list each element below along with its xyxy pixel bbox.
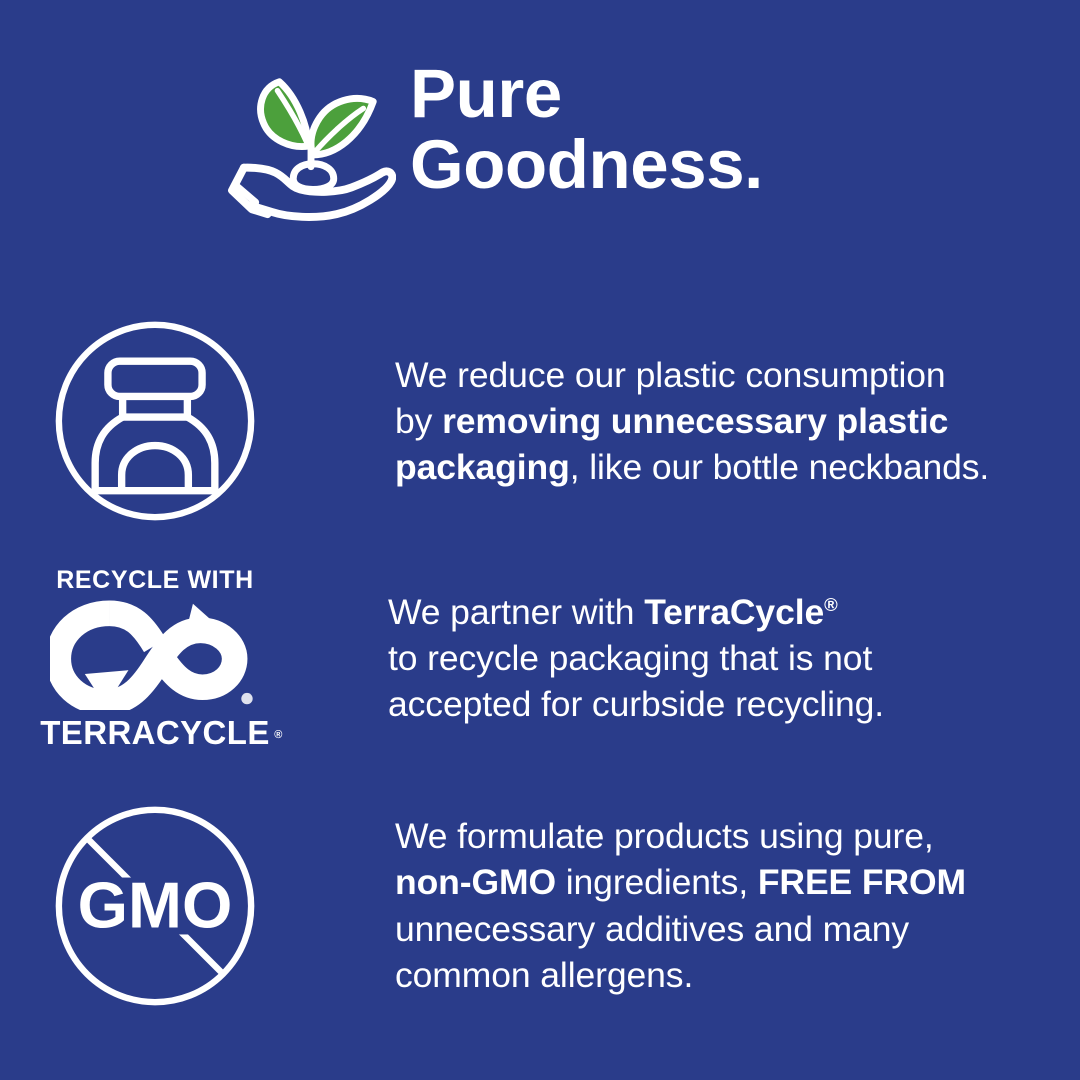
text-line: We partner with TerraCycle® [388,589,1080,635]
feature-text-plastic: We reduce our plastic consumption by rem… [395,352,1080,490]
feature-row-gmo: GMO We formulate products using pure, no… [0,798,1080,1013]
svg-text:GMO: GMO [78,868,233,941]
bottle-no-neckband-icon [5,318,305,524]
text-line: We formulate products using pure, [395,813,1080,859]
text-line: We reduce our plastic consumption [395,352,1080,398]
header: Pure Goodness. [228,58,763,224]
text-line: by removing unnecessary plastic [395,398,1080,444]
feature-text-gmo: We formulate products using pure, non-GM… [395,813,1080,998]
terracycle-logo: RECYCLE WITH TERRACYCLE ® [5,568,305,749]
terracycle-wordmark: TERRACYCLE [40,714,270,751]
text-line: unnecessary additives and many [395,906,1080,952]
no-gmo-icon: GMO [5,803,305,1009]
feature-row-plastic: We reduce our plastic consumption by rem… [0,318,1080,524]
page-title: Pure Goodness. [410,58,763,200]
mobius-infinity-loop-icon [50,600,260,710]
text-line: non-GMO ingredients, FREE FROM [395,859,1080,905]
feature-text-terracycle: We partner with TerraCycle® to recycle p… [388,589,1080,727]
text-line: to recycle packaging that is not [388,635,1080,681]
hand-holding-plant-icon [228,64,396,224]
feature-row-terracycle: RECYCLE WITH TERRACYCLE ® [0,558,1080,758]
text-line: packaging, like our bottle neckbands. [395,444,1080,490]
registered-mark-icon: ® [274,730,283,741]
text-line: common allergens. [395,952,1080,998]
terracycle-bottom-label: TERRACYCLE ® [40,716,270,749]
text-line: accepted for curbside recycling. [388,681,1080,727]
terracycle-top-label: RECYCLE WITH [56,568,253,593]
pure-goodness-infographic: Pure Goodness. We reduce our plastic con… [0,0,1080,1080]
